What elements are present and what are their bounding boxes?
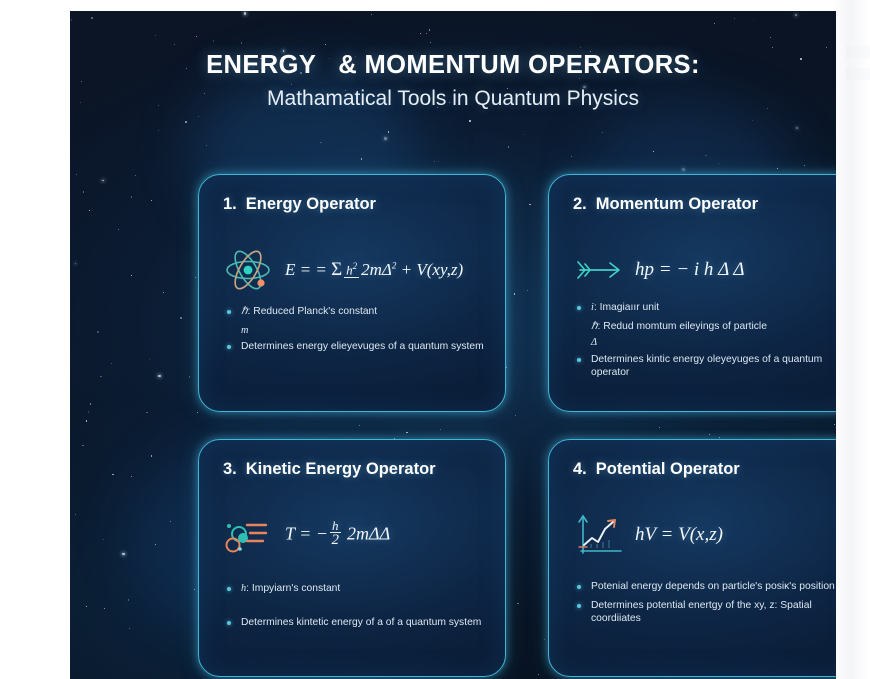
formula-momentum: hp = − i h Δ Δ (635, 259, 745, 281)
bullet-item: m (225, 324, 489, 338)
card-title: 4.Potential Operator (573, 460, 836, 479)
bullet-item: Determines potential enertgy of the xy, … (575, 599, 836, 626)
card-momentum-operator[interactable]: 2.Momentum Operator hp = (548, 174, 836, 412)
formula-row: hV = V(x,z) (571, 506, 836, 564)
page-subtitle: Mathamatical Tools in Quantum Physics (70, 87, 836, 111)
card-energy-operator[interactable]: 1.Energy Operator (198, 174, 506, 412)
bullet-item: ℏ: Redud momtum eileyings of particle (575, 320, 836, 334)
formula-energy: E = = Σh22mΔ2 + V(xy,z) (285, 259, 463, 281)
heading-block: ENERGY & MOMENTUM OPERATORS: Mathamatica… (70, 51, 836, 111)
formula-row: E = = Σh22mΔ2 + V(xy,z) (221, 241, 491, 299)
card-title: 2.Momentum Operator (573, 195, 836, 214)
card-potential-operator[interactable]: 4.Potential Operator (548, 439, 836, 677)
particles-bars-icon (221, 510, 279, 560)
bullet-item: i: Imagiaıır unit (575, 301, 836, 315)
bullet-item: Determines energy elieyevuges of a quant… (225, 340, 489, 354)
bullet-item: Determines kintic energy oleyeyuges of a… (575, 353, 836, 380)
page-canvas: ENERGY & MOMENTUM OPERATORS: Mathamatica… (0, 0, 870, 679)
card-number: 4. (573, 460, 587, 478)
card-title: 1.Energy Operator (223, 195, 491, 214)
bullet-list: ℏ: Reduced Planck's constant m Determine… (225, 305, 489, 359)
card-title: 3.Kinetic Energy Operator (223, 460, 491, 479)
card-number: 1. (223, 195, 237, 213)
card-number: 3. (223, 460, 237, 478)
infographic-panel: ENERGY & MOMENTUM OPERATORS: Mathamatica… (70, 11, 836, 679)
bullet-item: h: Impyiarn's constant (225, 582, 489, 596)
page-title: ENERGY & MOMENTUM OPERATORS: (70, 51, 836, 80)
bullet-item: Potenial energy depends on particle's po… (575, 580, 836, 594)
formula-kinetic: T = −h2 2mΔΔ (285, 520, 390, 550)
card-title-text: Energy Operator (246, 195, 376, 213)
card-number: 2. (573, 195, 587, 213)
formula-potential: hV = V(x,z) (635, 524, 723, 546)
bullet-item: Determines kintetic energy of a of a qua… (225, 616, 489, 630)
bullet-item: Δ (575, 336, 836, 350)
bullet-item: ℏ: Reduced Planck's constant (225, 305, 489, 319)
atom-icon (221, 245, 279, 295)
card-title-text: Momentum Operator (596, 195, 758, 213)
formula-row: hp = − i h Δ Δ (571, 241, 836, 299)
formula-row: T = −h2 2mΔΔ (221, 506, 491, 564)
line-chart-icon (571, 510, 629, 560)
bullet-list: Potenial energy depends on particle's po… (575, 580, 836, 631)
bullet-list: i: Imagiaıır unit ℏ: Redud momtum eileyi… (575, 301, 836, 385)
arrow-right-icon (571, 245, 629, 295)
card-title-text: Potential Operator (596, 460, 740, 478)
card-title-text: Kinetic Energy Operator (246, 460, 436, 478)
right-edge-band (836, 0, 870, 679)
card-kinetic-energy-operator[interactable]: 3.Kinetic Energy Operator (198, 439, 506, 677)
bullet-list: h: Impyiarn's constant Determines kintet… (225, 582, 489, 634)
